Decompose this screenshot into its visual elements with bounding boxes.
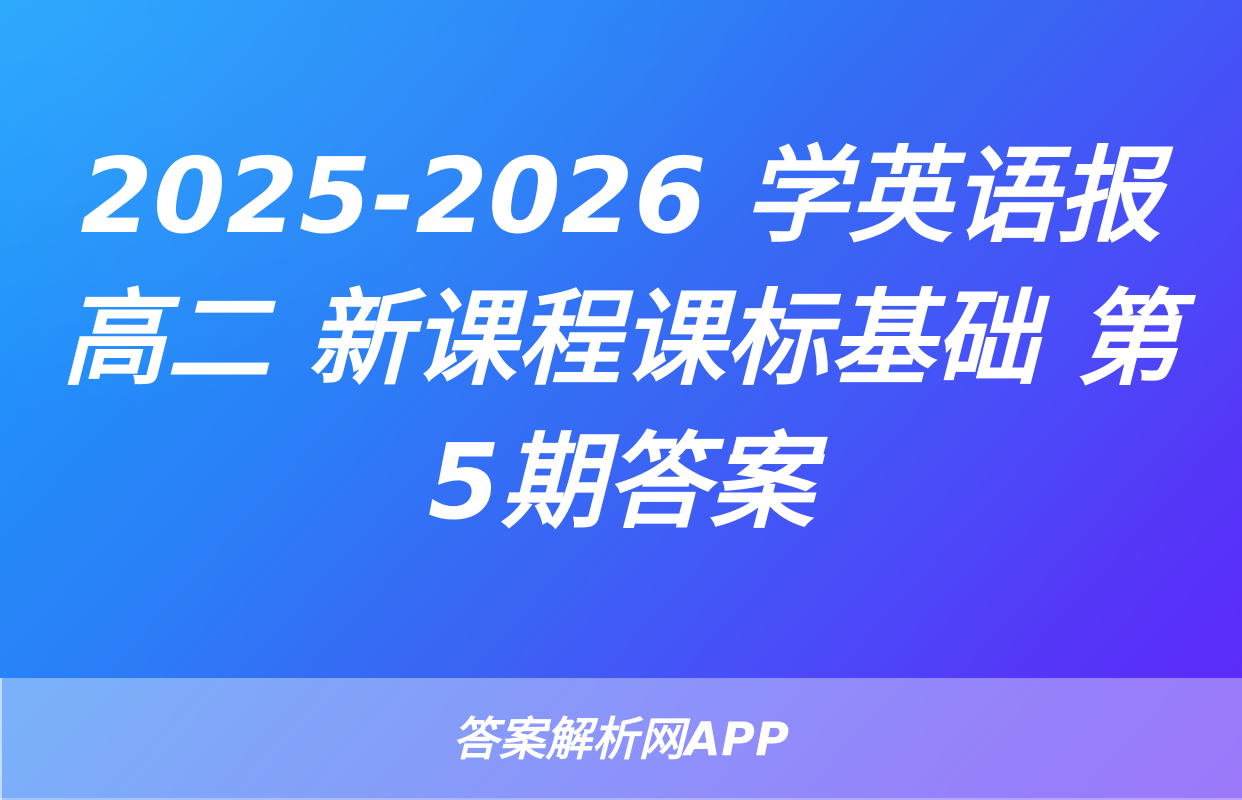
- brand-watermark: 答案解析网APP: [452, 716, 789, 762]
- headline-area: 2025-2026 学英语报 高二 新课程课标基础 第5期答案: [0, 0, 1242, 678]
- page-title: 2025-2026 学英语报 高二 新课程课标基础 第5期答案: [48, 125, 1194, 554]
- footer-brand-band: 答案解析网APP: [0, 678, 1242, 800]
- band-left-edge-highlight: [0, 678, 2, 800]
- poster-canvas: 2025-2026 学英语报 高二 新课程课标基础 第5期答案 答案解析网APP: [0, 0, 1242, 800]
